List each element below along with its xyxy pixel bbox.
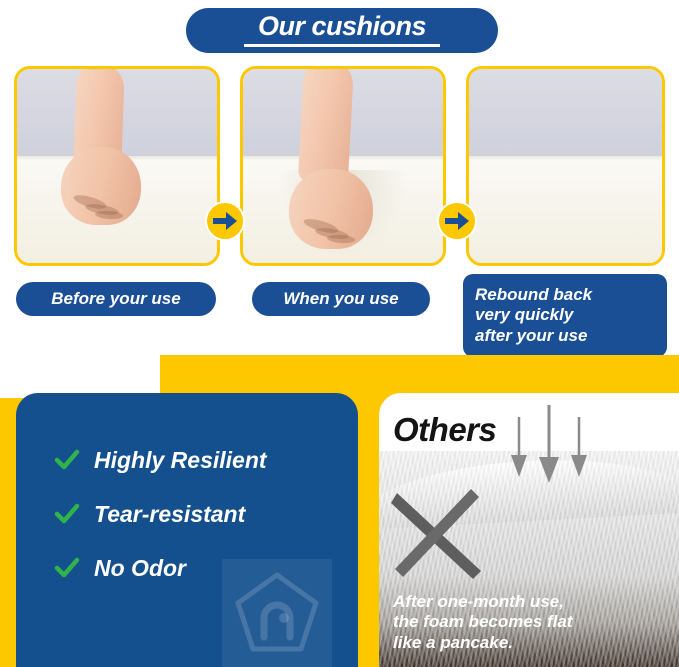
check-icon: [54, 501, 80, 527]
scene-wall: [469, 69, 662, 160]
photo-panel-before: [14, 66, 220, 266]
others-caption-line1: After one-month use,: [393, 592, 573, 612]
forearm-shape: [298, 66, 354, 184]
pentagon-home-logo-icon: [222, 559, 332, 667]
features-panel: Highly Resilient Tear-resistant No Odor: [16, 393, 358, 667]
list-item: Tear-resistant: [16, 487, 358, 541]
arrow-right-glyph: [213, 212, 237, 230]
arrow-right-icon: [205, 201, 245, 241]
scene-foam-edge: [469, 156, 662, 160]
photo-panel-during: [240, 66, 446, 266]
caption-after-line2: very quickly: [475, 305, 573, 325]
x-mark-glyph: [387, 485, 491, 585]
caption-after: Rebound back very quickly after your use: [463, 274, 667, 357]
others-panel: Others After one-month use, the foam bec…: [379, 393, 679, 667]
page-title: Our cushions: [258, 13, 426, 40]
list-item: Highly Resilient: [16, 433, 358, 487]
others-title: Others: [393, 411, 496, 449]
x-mark-icon: [387, 485, 491, 590]
feature-label: Highly Resilient: [94, 447, 267, 474]
check-icon: [54, 555, 80, 581]
arrow-down-icon: [507, 399, 597, 489]
arrow-right-icon: [437, 201, 477, 241]
title-underline: [244, 44, 440, 47]
arrow-right-glyph: [445, 212, 469, 230]
others-caption-line3: like a pancake.: [393, 633, 573, 653]
caption-during: When you use: [252, 282, 430, 316]
down-arrows-group: [507, 399, 597, 494]
check-icon: [54, 447, 80, 473]
photo-scene-during: [243, 69, 443, 263]
caption-before: Before your use: [16, 282, 216, 316]
photo-scene-before: [17, 69, 217, 263]
feature-label: Tear-resistant: [94, 501, 245, 528]
photo-panels-row: [0, 66, 679, 266]
caption-after-line3: after your use: [475, 326, 587, 346]
photo-panel-after: [466, 66, 665, 266]
others-caption: After one-month use, the foam becomes fl…: [393, 592, 573, 653]
infographic-page: Our cushions: [0, 0, 679, 667]
page-title-banner: Our cushions: [186, 8, 498, 53]
others-caption-line2: the foam becomes flat: [393, 612, 573, 632]
caption-after-line1: Rebound back: [475, 285, 592, 305]
feature-label: No Odor: [94, 555, 186, 582]
photo-scene-after: [469, 69, 662, 263]
scene-foam: [469, 156, 662, 263]
yellow-band-curve: [0, 338, 160, 398]
pentagon-home-glyph: [234, 571, 320, 655]
